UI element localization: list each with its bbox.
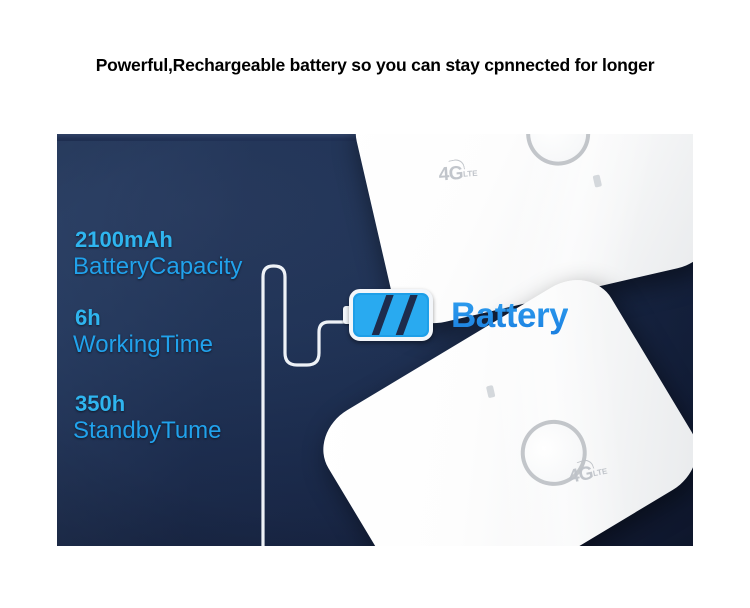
battery-fill <box>355 295 427 335</box>
status-led-indicator <box>486 385 496 398</box>
spec-working-time: 6h WorkingTime <box>75 306 213 359</box>
power-button-ring <box>520 134 597 172</box>
battery-label: Battery <box>451 296 568 336</box>
spec-value: 350h <box>75 392 222 416</box>
product-feature-image: 4GLTE 4GLTE Battery 2100mAh BatteryCapac… <box>57 134 693 546</box>
spec-standby-time: 350h StandbyTume <box>75 392 222 445</box>
spec-label: StandbyTume <box>73 416 222 445</box>
status-led-indicator <box>593 174 603 187</box>
battery-segment-divider <box>364 295 397 335</box>
battery-charging-icon <box>343 289 433 344</box>
cable-path <box>263 266 348 546</box>
logo-lte-text: LTE <box>463 169 478 179</box>
battery-shell <box>349 289 433 341</box>
spec-battery-capacity: 2100mAh BatteryCapacity <box>75 228 242 281</box>
spec-value: 6h <box>75 306 213 330</box>
4g-lte-logo: 4GLTE <box>438 162 478 187</box>
spec-label: BatteryCapacity <box>73 252 242 281</box>
spec-value: 2100mAh <box>75 228 242 252</box>
spec-label: WorkingTime <box>73 330 213 359</box>
battery-segment-divider <box>388 295 421 335</box>
page-title: Powerful,Rechargeable battery so you can… <box>0 55 750 76</box>
